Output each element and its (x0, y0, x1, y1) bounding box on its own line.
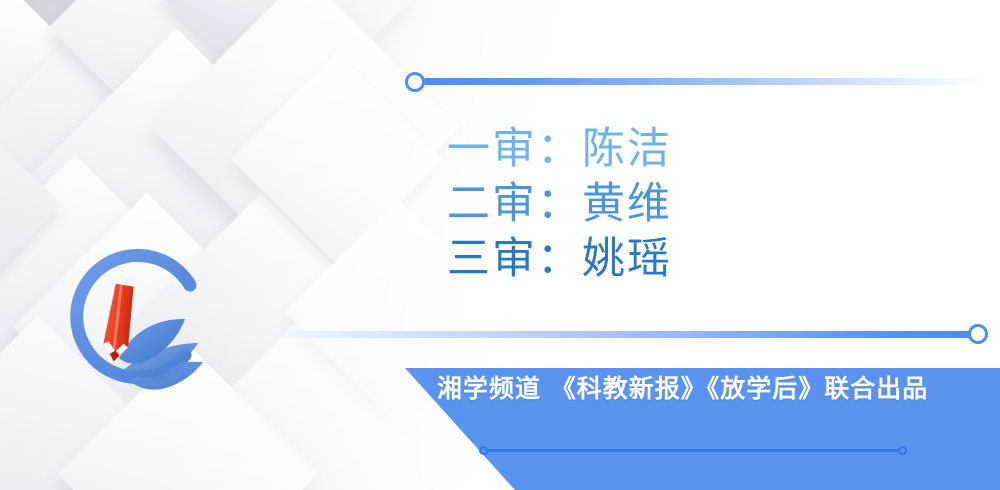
banner-divider-rule (483, 449, 902, 452)
credits-block: 一审：陈洁 二审：黄维 三审：姚瑶 (447, 122, 877, 287)
banner-rule-right-dot-icon (898, 446, 907, 455)
credit-line-first-review: 一审：陈洁 (447, 122, 877, 177)
credit-line-third-review: 三审：姚瑶 (447, 232, 877, 287)
banner-title: 湘学频道 《科教新报》《放学后》联合出品 (437, 372, 928, 406)
top-connector-line (423, 78, 985, 85)
banner-rule-left-dot-icon (479, 446, 488, 455)
bottom-connector-line (262, 331, 972, 338)
bottom-connector-ring-icon (968, 324, 988, 344)
poster-canvas: 一审：陈洁 二审：黄维 三审：姚瑶 湘学频道 《科教新报》《放学后》联合出品 (0, 0, 1000, 490)
credit-line-second-review: 二审：黄维 (447, 177, 877, 232)
xiangxue-channel-logo (57, 238, 223, 404)
top-connector-ring-icon (405, 72, 425, 92)
